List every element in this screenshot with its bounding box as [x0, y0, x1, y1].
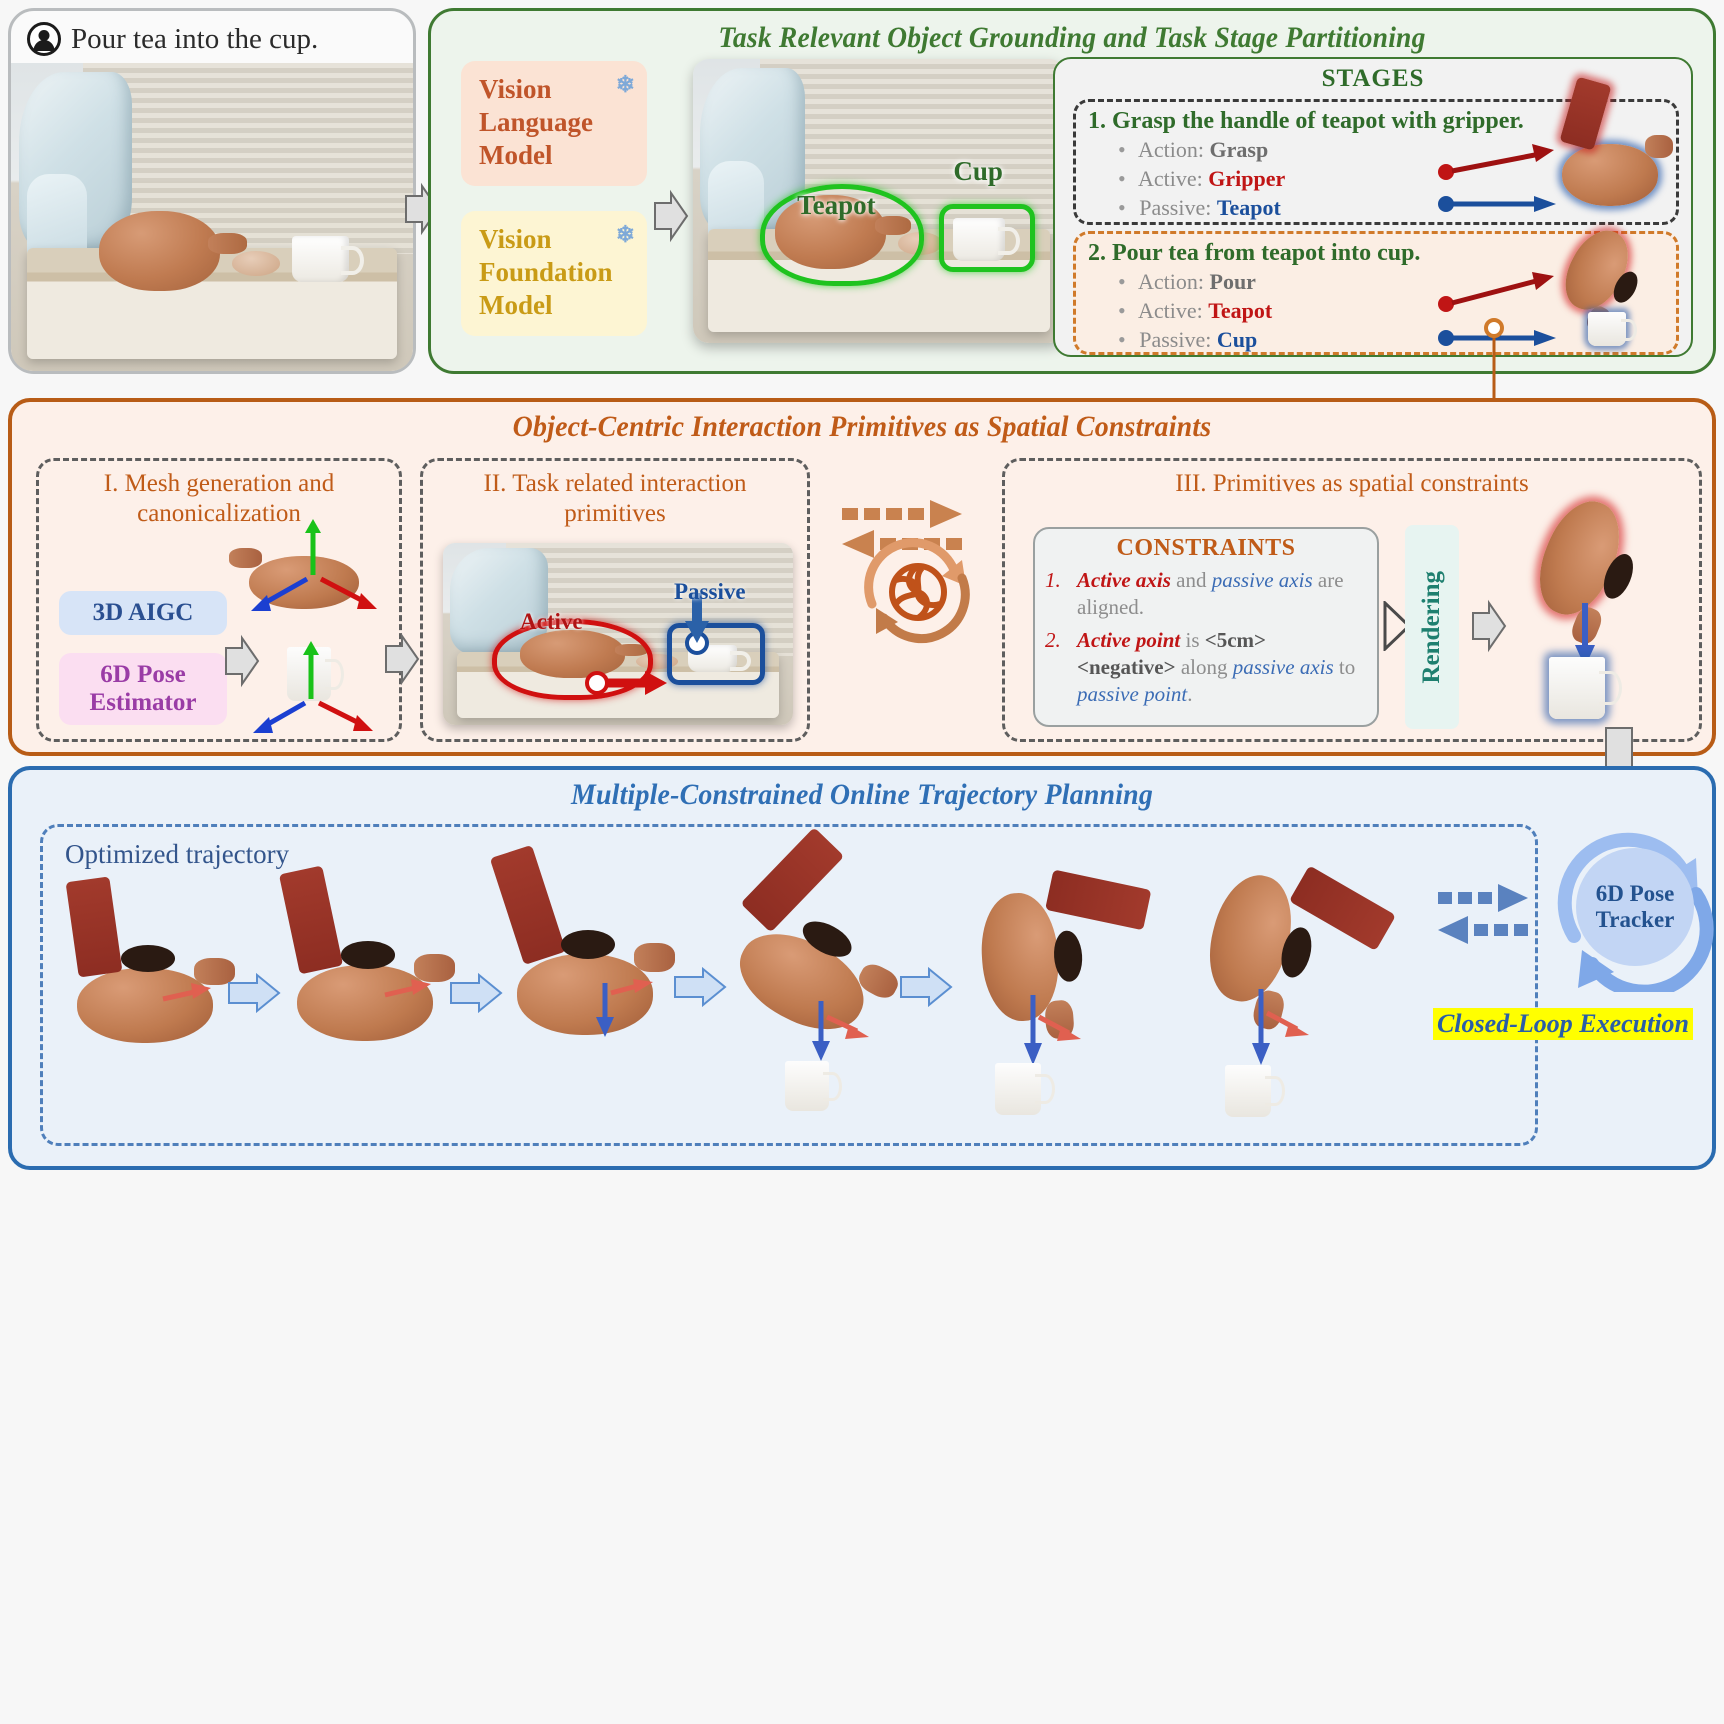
stage-1-active-value: Gripper: [1208, 166, 1285, 191]
sub-panel-mesh-generation: I. Mesh generation and canonicalization …: [36, 458, 402, 742]
primitives-panel: Object-Centric Interaction Primitives as…: [8, 398, 1716, 756]
constraint-1-part-1: Active axis: [1077, 568, 1171, 592]
trajectory-panel: Multiple-Constrained Online Trajectory P…: [8, 766, 1716, 1170]
frame-2-axes: [383, 977, 443, 1021]
segmented-scene-image: Teapot Cup: [693, 59, 1065, 343]
bullet-icon: •: [1118, 195, 1126, 220]
teapot-object: [99, 211, 220, 291]
rendering-label: Rendering: [1418, 571, 1446, 684]
constraint-2-text: Active point is <5cm> <negative> along p…: [1077, 627, 1367, 709]
sub-panel-interaction-primitives: II. Task related interaction primitives …: [420, 458, 810, 742]
constraint-2-part-8: .: [1187, 682, 1192, 706]
openai-logo-icon: [850, 530, 986, 646]
bullet-icon: •: [1118, 327, 1126, 352]
vfm-line-1: Vision: [479, 223, 633, 256]
trajectory-frame-3: [517, 923, 653, 1035]
constraint-1-text: Active axis and passive axis are aligned…: [1077, 567, 1367, 622]
stage-1-action-label: Action:: [1138, 137, 1204, 162]
trajectory-frame-6-cup: [1225, 1065, 1271, 1117]
primitive-vectors: [443, 543, 793, 725]
tracker-label-line-1: 6D Pose: [1596, 881, 1675, 907]
target-cup-thumbnail: [1588, 312, 1626, 346]
stage-1-active-label: Active:: [1138, 166, 1203, 191]
cup-label: Cup: [953, 156, 1003, 187]
gripper-glyph: [490, 845, 566, 965]
constraint-2-part-2: is: [1180, 628, 1205, 652]
rendered-cup: [1549, 657, 1605, 719]
snowflake-icon: ❄: [616, 221, 635, 249]
primitives-panel-title: Object-Centric Interaction Primitives as…: [72, 402, 1653, 444]
stage-2-active-value: Teapot: [1208, 298, 1272, 323]
stage-card-2: 2. Pour tea from teapot into cup. • Acti…: [1073, 231, 1679, 355]
vlm-line-2: Language: [479, 106, 633, 139]
vfm-line-3: Model: [479, 289, 633, 322]
constraint-item-1: 1. Active axis and passive axis are alig…: [1045, 567, 1367, 622]
sub-3-title: III. Primitives as spatial constraints: [1005, 461, 1699, 499]
input-panel: Pour tea into the cup.: [8, 8, 416, 374]
stage-card-1: 1. Grasp the handle of teapot with gripp…: [1073, 99, 1679, 225]
bullet-icon: •: [1118, 137, 1126, 162]
user-prompt: Pour tea into the cup.: [11, 11, 413, 63]
cup-object: [292, 236, 348, 282]
trajectory-arrow-4: [899, 967, 953, 1007]
constraint-2-part-1: Active point: [1077, 628, 1180, 652]
trajectory-frames-container: Optimized trajectory: [40, 824, 1538, 1146]
constraint-1-part-2: and: [1171, 568, 1212, 592]
vlm-line-1: Vision: [479, 73, 633, 106]
teapot-mouth: [121, 945, 175, 972]
stage-2-action-label: Action:: [1138, 269, 1204, 294]
arrow-rendering-to-result: [1471, 599, 1507, 653]
spout-glyph: [634, 943, 675, 972]
trajectory-arrow-3: [673, 967, 727, 1007]
bullet-icon: •: [1118, 166, 1126, 191]
sub-2-title: II. Task related interaction primitives: [423, 461, 807, 529]
gripper-glyph: [741, 827, 845, 932]
active-label: Active: [520, 609, 583, 635]
stage-1-passive-value: Teapot: [1217, 195, 1281, 220]
trajectory-frame-2: [297, 935, 433, 1041]
trajectory-arrow-1: [227, 973, 281, 1013]
teapot-glyph: [1562, 144, 1658, 206]
arrow-mesh-to-primitives: [384, 632, 420, 686]
trajectory-arrow-2: [449, 973, 503, 1013]
snowflake-icon: ❄: [616, 71, 635, 99]
passive-label: Passive: [674, 579, 746, 605]
teapot-mouth: [561, 930, 615, 959]
vfm-line-2: Foundation: [479, 256, 633, 289]
trajectory-frame-5-cup: [995, 1063, 1041, 1115]
gripper-teapot-thumbnail: [1562, 120, 1658, 206]
constraint-1-number: 1.: [1045, 567, 1067, 622]
closed-loop-execution-label: Closed-Loop Execution: [1428, 1008, 1698, 1040]
gripper-glyph: [279, 866, 343, 975]
constraint-2-part-6: to: [1334, 655, 1356, 679]
frame-3-axes: [589, 979, 659, 1051]
sub-panel-spatial-constraints: III. Primitives as spatial constraints C…: [1002, 458, 1702, 742]
pose-tracker-badge: 6D Pose Tracker: [1576, 848, 1694, 966]
grounding-panel-title: Task Relevant Object Grounding and Task …: [482, 11, 1661, 55]
cup-segmentation-outline: [939, 204, 1036, 272]
closed-loop-execution-text: Closed-Loop Execution: [1433, 1008, 1693, 1040]
constraint-2-part-7: passive point: [1077, 682, 1187, 706]
tracker-label-line-2: Tracker: [1596, 907, 1675, 933]
constraints-box: CONSTRAINTS 1. Active axis and passive a…: [1033, 527, 1379, 727]
frame-1-axes: [161, 979, 221, 1019]
stage-2-active-label: Active:: [1138, 298, 1203, 323]
stage-1-action-value: Grasp: [1210, 137, 1269, 162]
bullet-icon: •: [1118, 269, 1126, 294]
bullet-icon: •: [1118, 298, 1126, 323]
lid-object: [232, 251, 280, 276]
vision-language-model-box: ❄ Vision Language Model: [461, 61, 647, 186]
stages-box: STAGES 1. Grasp the handle of teapot wit…: [1053, 57, 1693, 357]
teapot-label: Teapot: [797, 190, 876, 221]
rendering-tab: Rendering: [1405, 525, 1459, 729]
tag-3d-aigc: 3D AIGC: [59, 591, 227, 635]
trajectory-frame-4-cup: [785, 1061, 829, 1111]
gripper-glyph: [65, 876, 121, 977]
constraint-1-part-3: passive axis: [1212, 568, 1313, 592]
primitive-scene-image: Active Passive: [443, 543, 793, 725]
spout-glyph: [1645, 135, 1674, 157]
constraint-2-part-5: passive axis: [1233, 655, 1334, 679]
teapot-axes: [235, 519, 395, 629]
user-avatar-icon: [27, 22, 61, 56]
grounding-panel: Task Relevant Object Grounding and Task …: [428, 8, 1716, 374]
constraint-2-part-4: along: [1176, 655, 1233, 679]
arrow-tags-to-mesh: [224, 634, 260, 688]
gripper-glyph: [1045, 870, 1151, 931]
stage-2-passive-label: Passive:: [1139, 327, 1211, 352]
stage-1-passive-label: Passive:: [1139, 195, 1211, 220]
vision-foundation-model-box: ❄ Vision Foundation Model: [461, 211, 647, 336]
stage-2-action-value: Pour: [1210, 269, 1256, 294]
constraint-2-number: 2.: [1045, 627, 1067, 709]
vlm-line-3: Model: [479, 139, 633, 172]
constraints-title: CONSTRAINTS: [1045, 535, 1367, 562]
prompt-text: Pour tea into the cup.: [71, 23, 318, 56]
arrow-models-to-segmentation: [653, 189, 689, 243]
execution-dashed-arrows: [1548, 1650, 1688, 1724]
stage-2-passive-value: Cup: [1217, 327, 1257, 352]
constraint-item-2: 2. Active point is <5cm> <negative> alon…: [1045, 627, 1367, 709]
optimized-trajectory-label: Optimized trajectory: [65, 839, 289, 870]
teapot-mouth: [341, 941, 395, 969]
cup-axes: [245, 637, 395, 747]
trajectory-panel-title: Multiple-Constrained Online Trajectory P…: [72, 770, 1653, 812]
input-scene-image: [11, 63, 413, 371]
tag-6d-pose-estimator: 6D Pose Estimator: [59, 653, 227, 725]
trajectory-frame-1: [77, 939, 213, 1043]
